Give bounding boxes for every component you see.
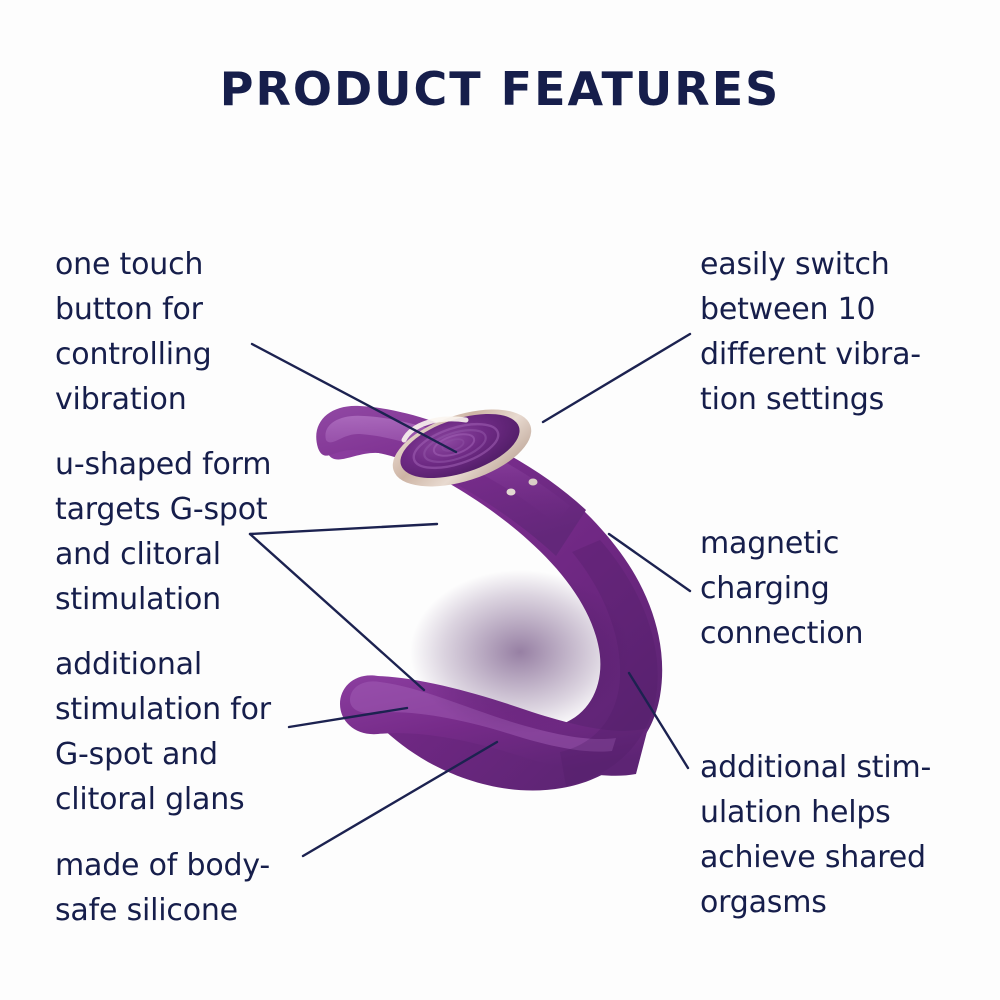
charging-contact-dot-1 [507, 489, 516, 496]
feature-label-additional-stimulation-gspot: additional stimulation for G-spot and cl… [55, 642, 385, 822]
feature-label-magnetic-charging: magnetic charging connection [700, 521, 990, 656]
product-inner-shadow [410, 570, 630, 734]
feature-label-one-touch-button: one touch button for controlling vibrati… [55, 242, 355, 422]
feature-label-vibration-settings: easily switch between 10 different vibra… [700, 242, 1000, 422]
feature-label-u-shaped-form: u-shaped form targets G-spot and clitora… [55, 442, 375, 622]
leader-line-vibration-settings [543, 334, 690, 422]
feature-label-body-safe-silicone: made of body- safe silicone [55, 843, 375, 933]
charging-contact-dot-2 [529, 479, 538, 486]
product-features-infographic: PRODUCT FEATURES [0, 0, 1000, 1000]
feature-label-shared-orgasms: additional stim- ulation helps achieve s… [700, 745, 1000, 925]
